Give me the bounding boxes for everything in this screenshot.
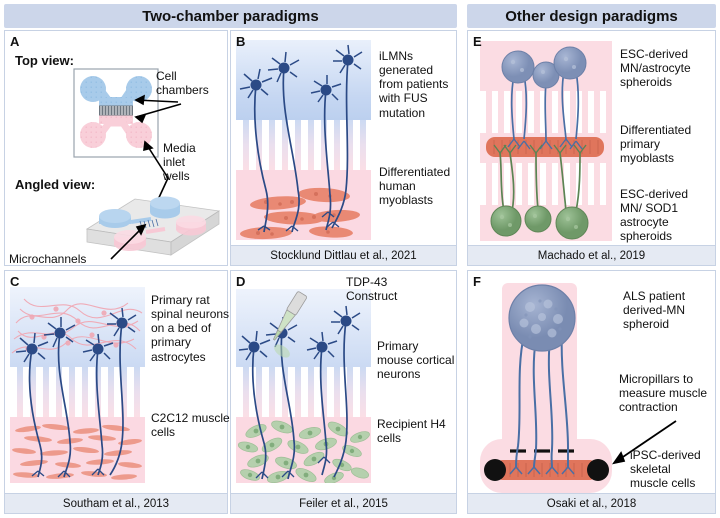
- panel-d-cells: [236, 289, 371, 483]
- panel-c-cells: [10, 287, 145, 483]
- panel-e-bottom-label: ESC-derived MN/ SOD1 astrocyte spheroids: [620, 187, 688, 244]
- panel-c-letter: C: [10, 274, 19, 289]
- green-spheroid-group: [491, 206, 588, 239]
- panel-f-spheroid: [509, 285, 575, 351]
- green-axon-group: [500, 153, 580, 211]
- panel-f-muscle-label: iPSC-derived skeletal muscle cells: [630, 448, 701, 490]
- panel-b-letter: B: [236, 34, 245, 49]
- panel-e-middle-label: Differentiated primary myoblasts: [620, 123, 691, 165]
- panel-f-citation: Osaki et al., 2018: [468, 493, 715, 513]
- panel-d-device: [236, 289, 371, 483]
- panel-c: C: [4, 270, 228, 514]
- panel-b-top-label: iLMNs generated from patients with FUS m…: [379, 49, 448, 120]
- panel-d-construct-label: TDP-43 Construct: [346, 275, 397, 303]
- panel-b-cells: [236, 40, 371, 240]
- panel-f-muscle-strip: [494, 460, 598, 480]
- panel-d: D: [230, 270, 457, 514]
- panel-e-cells: [480, 41, 612, 241]
- figure-root: Two-chamber paradigms Other design parad…: [0, 0, 720, 518]
- panel-a-angled-view-chip: [87, 197, 219, 256]
- panel-c-citation: Southam et al., 2013: [5, 493, 227, 513]
- panel-e-device: [480, 41, 612, 241]
- pipette-icon: [269, 291, 307, 343]
- micropillar-left: [484, 459, 506, 481]
- panel-e-top-label: ESC-derived MN/astrocyte spheroids: [620, 47, 691, 89]
- panel-c-device: [10, 287, 145, 483]
- panel-c-top-label: Primary rat spinal neurons on a bed of p…: [151, 293, 229, 364]
- panel-e-letter: E: [473, 34, 482, 49]
- panel-a-cell-chambers-label: Cell chambers: [156, 69, 209, 97]
- panel-f-micropillars-label: Micropillars to measure muscle contracti…: [619, 372, 707, 414]
- panel-f: F: [467, 270, 716, 514]
- panel-d-top-label: Primary mouse cortical neurons: [377, 339, 454, 381]
- panel-a-letter: A: [10, 34, 19, 49]
- panel-b: B: [230, 30, 457, 266]
- panel-b-device: [236, 40, 371, 240]
- neuron-soma-group: [239, 306, 360, 360]
- panel-d-bottom-label: Recipient H4 cells: [377, 417, 446, 445]
- panel-b-citation: Stocklund Dittlau et al., 2021: [231, 245, 456, 265]
- panel-d-letter: D: [236, 274, 245, 289]
- group-header-two-chamber: Two-chamber paradigms: [4, 4, 457, 28]
- panel-d-citation: Feiler et al., 2015: [231, 493, 456, 513]
- panel-e: E: [467, 30, 716, 266]
- group-header-other-design: Other design paradigms: [467, 4, 716, 28]
- panel-a-media-inlet-wells-label: Media inlet wells: [163, 141, 196, 183]
- panel-a: A Top view: Angled view:: [4, 30, 228, 266]
- blue-spheroid-group: [502, 47, 586, 88]
- neuron-soma-group: [240, 45, 362, 102]
- panel-f-top-label: ALS patient derived-MN spheroid: [623, 289, 685, 331]
- panel-f-letter: F: [473, 274, 481, 289]
- panel-e-citation: Machado et al., 2019: [468, 245, 715, 265]
- panel-a-microchannels-label: Microchannels: [9, 252, 86, 266]
- panel-c-bottom-label: C2C12 muscle cells: [151, 411, 230, 439]
- micropillar-right: [587, 459, 609, 481]
- panel-b-bottom-label: Differentiated human myoblasts: [379, 165, 450, 207]
